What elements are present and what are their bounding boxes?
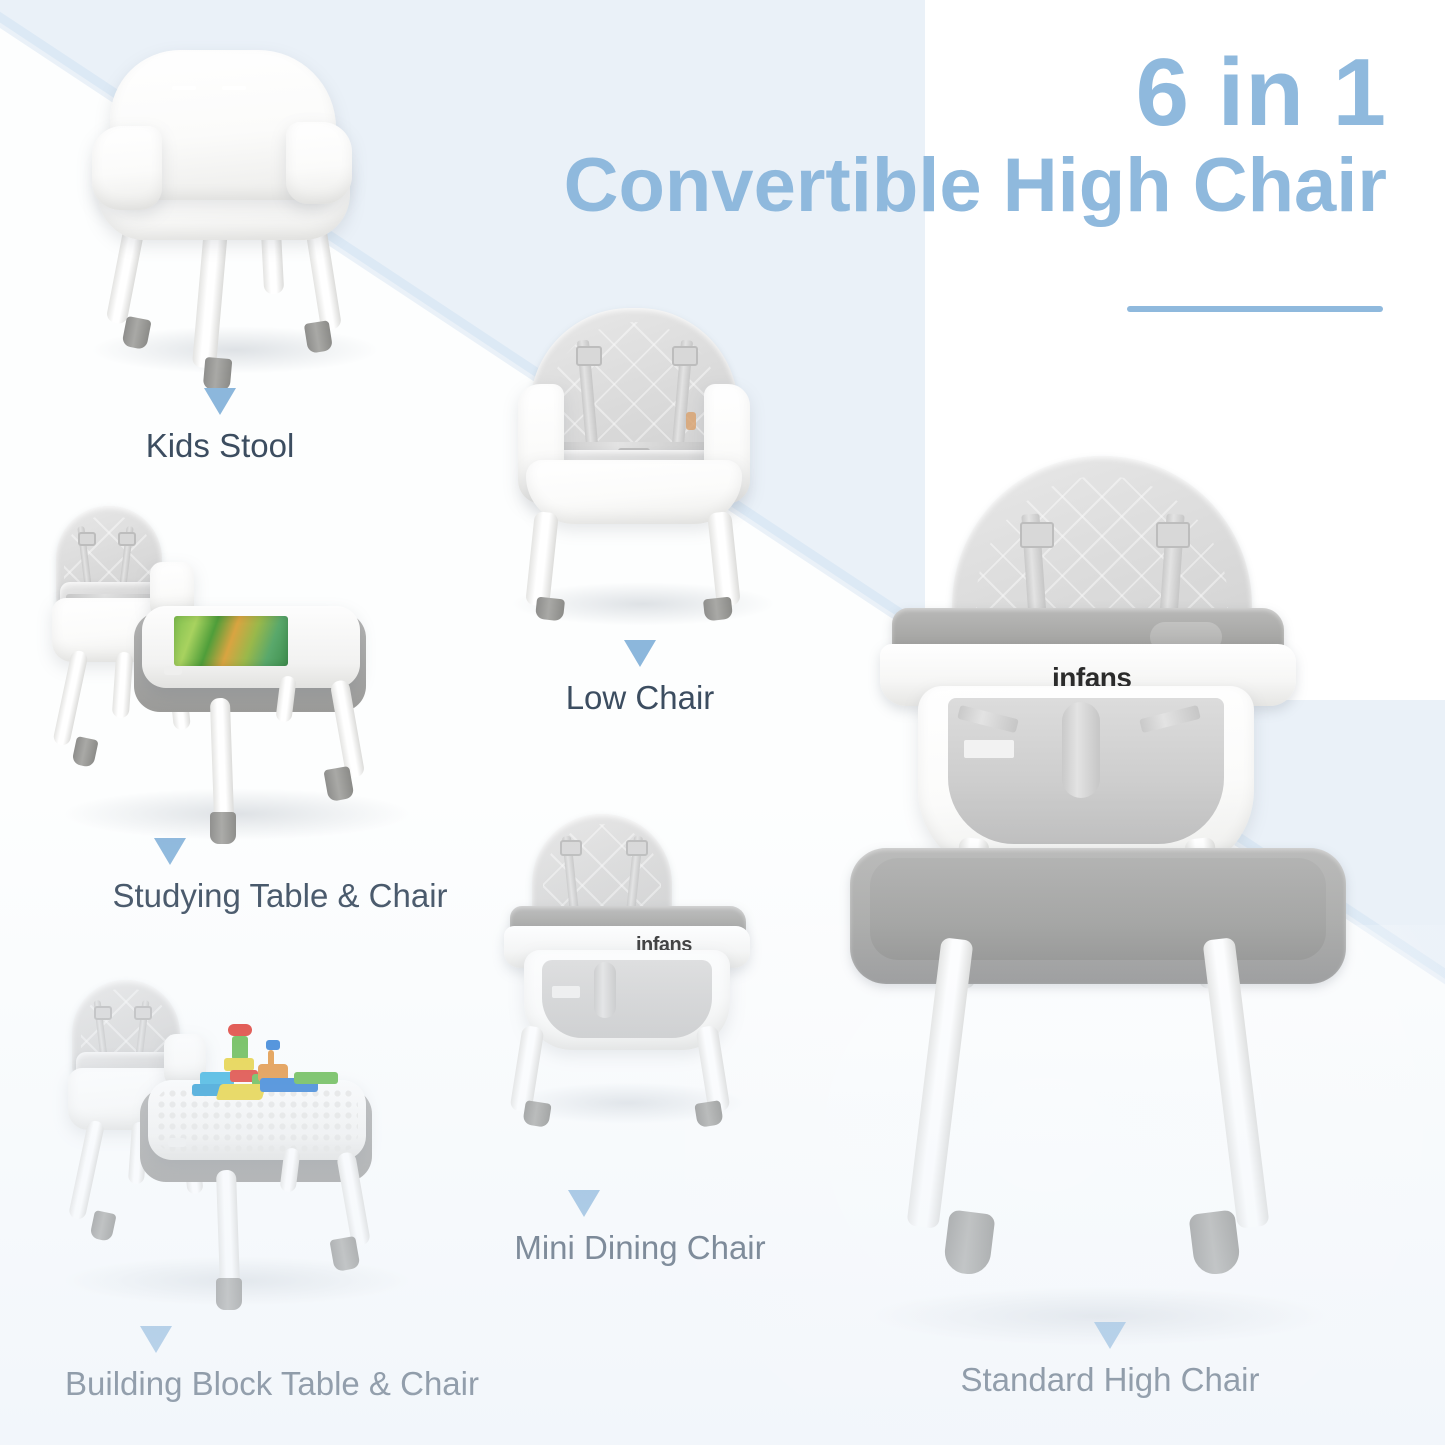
- studying-table-shadow: [62, 788, 412, 840]
- toy-block-yellow-ramp: [216, 1084, 267, 1100]
- high-chair-foot-right: [1188, 1209, 1241, 1276]
- mini-chair-foot-left: [522, 1100, 551, 1128]
- callout-studying-table-chair: Studying Table & Chair: [30, 838, 530, 915]
- kids-stool-armrest-left: [92, 126, 162, 210]
- block-table-foot-front: [216, 1278, 242, 1310]
- mini-chair-seat-liner: [542, 960, 712, 1038]
- studying-chair-buckle-left: [78, 532, 96, 546]
- studying-chair-leg-left: [52, 649, 89, 746]
- low-chair-buckle-left: [576, 346, 602, 366]
- studying-chair-foot-left: [71, 736, 98, 768]
- product-mini-dining-chair: infans: [490, 810, 760, 1130]
- low-chair-side-tag: [686, 412, 696, 430]
- high-chair-care-tag: [964, 740, 1014, 758]
- kids-stool-vent-slot-left: [172, 86, 196, 90]
- triangle-down-icon: [140, 1326, 172, 1353]
- studying-table-latch: [164, 666, 182, 675]
- studying-table-dinosaur-decal: [174, 616, 288, 666]
- triangle-down-icon: [1094, 1322, 1126, 1349]
- studying-chair-leg-back: [112, 651, 134, 718]
- mini-chair-foot-right: [694, 1100, 723, 1128]
- low-chair-foot-right: [703, 597, 733, 622]
- callout-kids-stool: Kids Stool: [60, 388, 380, 465]
- triangle-down-icon: [624, 640, 656, 667]
- callout-label-standard-high-chair: Standard High Chair: [880, 1361, 1340, 1399]
- high-chair-foot-left: [942, 1209, 995, 1276]
- high-chair-footrest-surface: [870, 858, 1326, 960]
- product-kids-stool: [80, 30, 380, 380]
- product-low-chair: [490, 300, 790, 630]
- mini-chair-care-tag: [552, 986, 580, 998]
- product-infographic: 6 in 1 Convertible High Chair Kids Stool: [0, 0, 1445, 1445]
- kids-stool-armrest-right: [286, 122, 352, 204]
- toy-block-green-tower: [232, 1036, 248, 1060]
- high-chair-buckle-left: [1020, 522, 1054, 548]
- block-chair-buckle-right: [134, 1006, 152, 1020]
- studying-table-leg-front: [210, 698, 234, 823]
- low-chair-buckle-right: [672, 346, 698, 366]
- callout-standard-high-chair: Standard High Chair: [880, 1322, 1340, 1399]
- mini-chair-crotch-strap: [594, 962, 616, 1018]
- block-table-foot-right: [329, 1236, 360, 1272]
- block-table-leg-front: [216, 1170, 240, 1289]
- high-chair-crotch-strap: [1062, 702, 1100, 798]
- low-chair-foot-left: [535, 597, 565, 622]
- callout-label-mini-dining-chair: Mini Dining Chair: [440, 1229, 840, 1267]
- callout-label-kids-stool: Kids Stool: [60, 427, 380, 465]
- studying-chair-buckle-right: [118, 532, 136, 546]
- callout-label-studying-table-chair: Studying Table & Chair: [30, 877, 530, 915]
- kids-stool-foot-front: [203, 357, 233, 391]
- product-standard-high-chair: infans: [840, 440, 1360, 1340]
- kids-stool-foot-right: [304, 320, 333, 354]
- mini-chair-buckle-left: [560, 840, 582, 856]
- block-table-latch: [168, 1138, 186, 1147]
- headline-line-1: 6 in 1: [487, 44, 1387, 142]
- product-building-block-table: [52, 980, 422, 1320]
- callout-label-low-chair: Low Chair: [470, 679, 810, 717]
- block-chair-leg-left: [68, 1119, 105, 1220]
- headline-divider: [1127, 306, 1383, 312]
- block-chair-foot-left: [89, 1210, 116, 1242]
- toy-block-red-top: [228, 1024, 252, 1036]
- callout-low-chair: Low Chair: [470, 640, 810, 717]
- high-chair-buckle-right: [1156, 522, 1190, 548]
- callout-building-block-table: Building Block Table & Chair: [12, 1326, 532, 1403]
- triangle-down-icon: [568, 1190, 600, 1217]
- headline-line-2: Convertible High Chair: [487, 142, 1387, 229]
- headline: 6 in 1 Convertible High Chair: [487, 44, 1387, 229]
- toy-block-blue-flag: [266, 1040, 280, 1050]
- block-chair-buckle-left: [94, 1006, 112, 1020]
- studying-table-foot-right: [323, 766, 354, 802]
- mini-chair-buckle-right: [626, 840, 648, 856]
- toy-block-green-long: [294, 1072, 338, 1084]
- kids-stool-vent-slot-right: [222, 86, 246, 90]
- product-studying-table-chair: [52, 500, 422, 860]
- triangle-down-icon: [154, 838, 186, 865]
- callout-mini-dining-chair: Mini Dining Chair: [440, 1190, 840, 1267]
- callout-label-building-block-table: Building Block Table & Chair: [12, 1365, 532, 1403]
- triangle-down-icon: [204, 388, 236, 415]
